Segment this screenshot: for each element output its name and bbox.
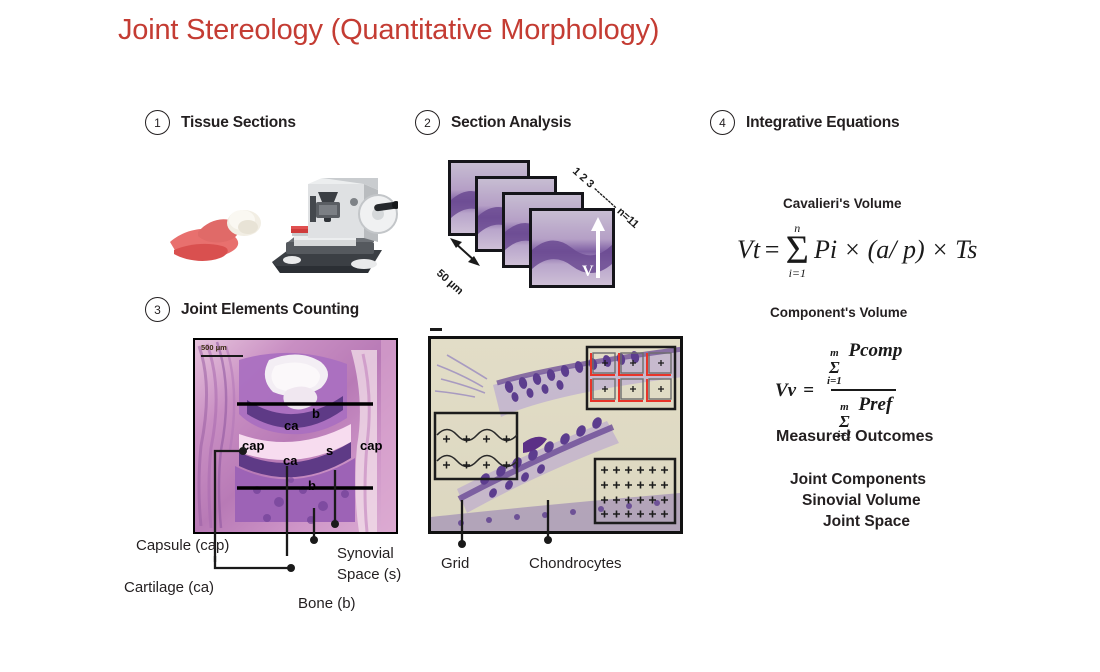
scale-bar <box>201 355 243 357</box>
step-header-2: 2 Section Analysis <box>415 110 571 135</box>
caption-grid: Grid <box>441 556 469 573</box>
caption-chondrocytes: Chondrocytes <box>529 556 622 573</box>
cavalieri-lhs: Vt <box>737 235 760 265</box>
section-thickness-indicator: 50 µm <box>434 238 480 297</box>
cavalieri-equation: Vt = n Σ i=1 Pi × (a/ p) × Ts <box>737 222 977 279</box>
label-capsule-left: cap <box>242 438 264 453</box>
outcome-joint-components: Joint Components <box>790 470 926 491</box>
caption-synovial-space-line2: Space (s) <box>337 567 401 584</box>
step-header-1: 1 Tissue Sections <box>145 110 296 135</box>
cartilage-leader-line <box>185 552 315 578</box>
caption-bone: Bone (b) <box>298 596 356 613</box>
sigma-icon: Σ <box>786 234 809 267</box>
step-number-badge-1: 1 <box>145 110 170 135</box>
tissue-sectioning-illustration <box>168 176 398 288</box>
caption-capsule: Capsule (cap) <box>136 538 229 555</box>
component-lhs: Vv <box>775 380 796 402</box>
numerator-term: Pcomp <box>849 340 903 361</box>
section-slide <box>529 208 615 288</box>
measured-outcomes-heading: Measured Outcomes <box>776 428 933 446</box>
histology-image-cartilage-grid[interactable] <box>428 336 683 534</box>
step-title-1: Tissue Sections <box>181 114 296 132</box>
cavalieri-equals: = <box>763 235 781 265</box>
label-synovial-space: s <box>326 443 333 458</box>
label-cartilage-upper: ca <box>284 418 298 433</box>
caption-synovial-space-line1: Synovial <box>337 546 394 563</box>
label-bone-lower: b <box>308 478 316 493</box>
denominator-term: Pref <box>859 394 893 415</box>
histology-right-top-tick <box>430 328 442 331</box>
thickness-label: 50 µm <box>434 267 466 297</box>
volume-axis-label: V <box>582 263 594 280</box>
tissue-specimen-icon <box>170 210 261 261</box>
outcome-joint-space: Joint Space <box>823 512 910 533</box>
step-number-badge-3: 3 <box>145 297 170 322</box>
cavalieri-sigma-lower: i=1 <box>789 267 806 279</box>
section-stack-illustration: V 50 µm 1 2 3 -------- n=11 <box>430 150 660 300</box>
num-sigma-lower: i=1 <box>827 376 842 387</box>
component-equals: = <box>803 380 814 402</box>
cavalieri-heading: Cavalieri's Volume <box>783 196 902 211</box>
histology-image-joint[interactable]: 500 μm ca b cap cap ca s b <box>193 338 398 534</box>
component-fraction: m Σ i=1 Pcomp m Σ i=1 Pref <box>821 340 906 441</box>
caption-cartilage: Cartilage (ca) <box>124 580 214 597</box>
label-cartilage-lower: ca <box>283 453 297 468</box>
scale-bar-label: 500 μm <box>201 343 227 352</box>
step-title-3: Joint Elements Counting <box>181 301 359 319</box>
step-title-2: Section Analysis <box>451 114 571 132</box>
step-title-4: Integrative Equations <box>746 114 899 132</box>
step-header-3: 3 Joint Elements Counting <box>145 297 359 322</box>
label-bone-upper: b <box>312 406 320 421</box>
page-title: Joint Stereology (Quantitative Morpholog… <box>118 14 659 47</box>
component-numerator: m Σ i=1 Pcomp <box>821 340 906 389</box>
sigma-icon: Σ <box>829 359 840 376</box>
label-capsule-right: cap <box>360 438 382 453</box>
step-header-4: 4 Integrative Equations <box>710 110 899 135</box>
cavalieri-rhs: Pi × (a/ p) × Ts <box>814 235 977 265</box>
step-number-badge-4: 4 <box>710 110 735 135</box>
component-volume-heading: Component's Volume <box>770 305 907 320</box>
outcome-sinovial-volume: Sinovial Volume <box>802 491 921 512</box>
cavalieri-summation: n Σ i=1 <box>786 222 809 279</box>
numerator-summation: m Σ i=1 <box>827 348 842 387</box>
microtome-icon <box>272 178 398 273</box>
step-number-badge-2: 2 <box>415 110 440 135</box>
component-volume-equation: Vv = m Σ i=1 Pcomp m Σ i=1 Pref <box>775 340 906 441</box>
